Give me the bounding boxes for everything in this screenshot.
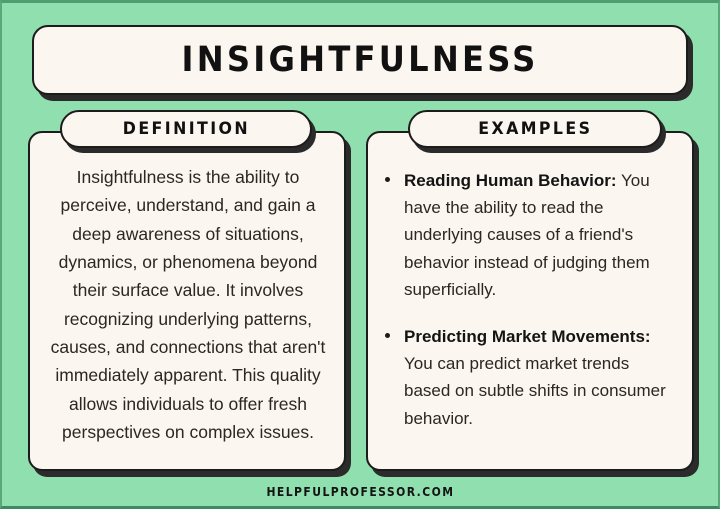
list-item: Reading Human Behavior: You have the abi…: [382, 167, 680, 303]
definition-header-pill: DEFINITION: [60, 110, 312, 148]
examples-header-pill: EXAMPLES: [408, 110, 662, 148]
bullet-icon: [385, 333, 390, 338]
list-item: Predicting Market Movements: You can pre…: [382, 323, 680, 432]
example-body-text: You can predict market trends based on s…: [404, 354, 666, 427]
footer: HELPFULPROFESSOR.COM: [2, 483, 718, 501]
example-lead-label: Reading Human Behavior:: [404, 171, 617, 190]
definition-body-text: Insightfulness is the ability to perceiv…: [42, 163, 334, 446]
title-card: INSIGHTFULNESS: [32, 25, 688, 95]
examples-list: Reading Human Behavior: You have the abi…: [382, 167, 680, 432]
examples-header-label: EXAMPLES: [478, 119, 592, 139]
definition-header-label: DEFINITION: [122, 119, 249, 139]
example-lead-label: Predicting Market Movements:: [404, 327, 651, 346]
bullet-icon: [385, 177, 390, 182]
footer-attribution: HELPFULPROFESSOR.COM: [266, 485, 454, 499]
page-title: INSIGHTFULNESS: [181, 40, 538, 80]
infographic-poster: INSIGHTFULNESS DEFINITION EXAMPLES Insig…: [0, 0, 720, 509]
example-body-text: You have the ability to read the underly…: [404, 171, 650, 299]
